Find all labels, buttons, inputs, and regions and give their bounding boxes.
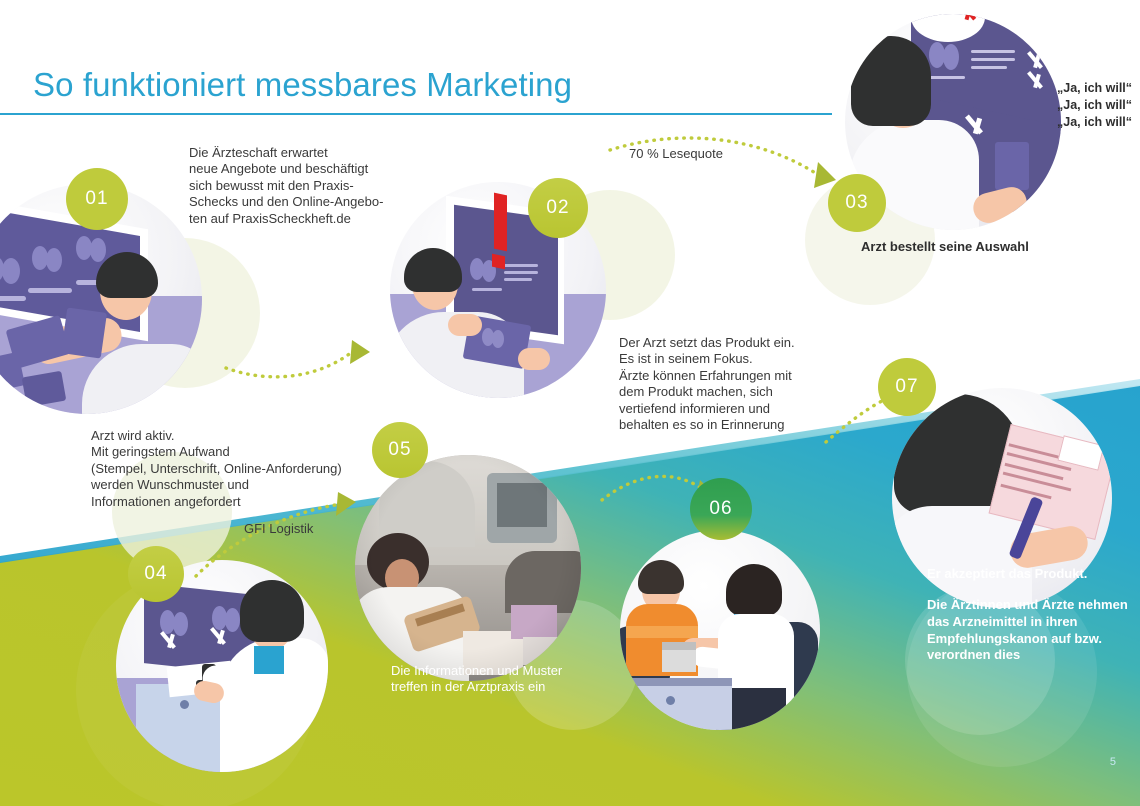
- caption-step-05: Die Informationen und Muster treffen in …: [391, 663, 621, 696]
- step-badge-01: 01: [66, 168, 128, 230]
- annotation-gfi-logistik: GFI Logistik: [244, 521, 404, 537]
- step-number-06: 06: [709, 498, 732, 520]
- annotation-ja-ich-will: „Ja, ich will“ „Ja, ich will“ „Ja, ich w…: [1057, 80, 1140, 131]
- annotation-empfehlungskanon: Die Ärztinnen und Ärzte nehmen das Arzne…: [927, 597, 1140, 664]
- caption-step-01: Die Ärzteschaft erwartet neue Angebote u…: [189, 145, 429, 227]
- page-number: 5: [1110, 756, 1116, 768]
- annotation-lesequote: 70 % Lesequote: [629, 146, 829, 162]
- step-number-05: 05: [388, 439, 411, 461]
- step-badge-03: 03: [828, 174, 886, 232]
- step-number-03: 03: [845, 192, 868, 214]
- page-title: So funktioniert messbares Marketing: [33, 66, 572, 104]
- title-underline: [0, 113, 832, 115]
- step-badge-06: 06: [690, 478, 752, 540]
- exclamation-mark-icon: [494, 193, 507, 252]
- step-badge-04: 04: [128, 546, 184, 602]
- step-number-02: 02: [546, 197, 569, 219]
- caption-step-07: Er akzeptiert das Produkt.: [927, 566, 1140, 582]
- slide-canvas: 01 02: [0, 0, 1140, 806]
- step-number-01: 01: [85, 188, 108, 210]
- scene-05-photo: [355, 455, 581, 681]
- caption-step-03: Arzt bestellt seine Auswahl: [861, 239, 1101, 255]
- step-badge-02: 02: [528, 178, 588, 238]
- step-badge-07: 07: [878, 358, 936, 416]
- scene-06-illustration: [620, 530, 820, 730]
- step-number-07: 07: [895, 376, 918, 398]
- caption-step-04: Arzt wird aktiv. Mit geringstem Aufwand …: [91, 428, 381, 510]
- annotation-produkt-einsatz: Der Arzt setzt das Produkt ein. Es ist i…: [619, 335, 879, 433]
- step-number-04: 04: [144, 563, 167, 585]
